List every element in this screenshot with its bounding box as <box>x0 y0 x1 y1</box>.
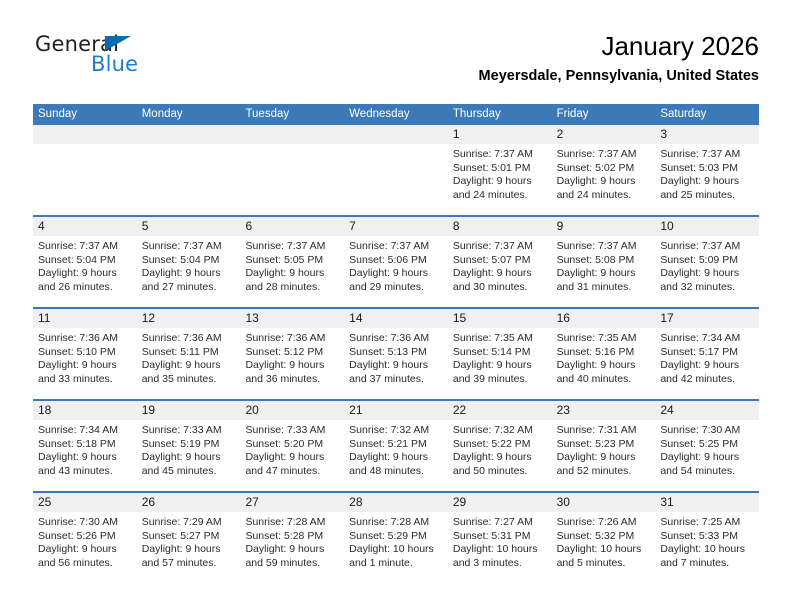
daylight-text-line1: Daylight: 9 hours <box>245 543 339 557</box>
week-row: 1Sunrise: 7:37 AMSunset: 5:01 PMDaylight… <box>33 125 759 215</box>
day-cell[interactable]: 10Sunrise: 7:37 AMSunset: 5:09 PMDayligh… <box>655 217 759 307</box>
weekday-header-thursday: Thursday <box>448 104 552 125</box>
day-number: 7 <box>349 219 356 233</box>
day-cell[interactable]: 20Sunrise: 7:33 AMSunset: 5:20 PMDayligh… <box>240 401 344 491</box>
sunrise-text: Sunrise: 7:36 AM <box>245 332 339 346</box>
sunset-text: Sunset: 5:23 PM <box>557 438 651 452</box>
sunrise-text: Sunrise: 7:28 AM <box>245 516 339 530</box>
weekday-header-row: Sunday Monday Tuesday Wednesday Thursday… <box>33 104 759 125</box>
day-cell[interactable]: 2Sunrise: 7:37 AMSunset: 5:02 PMDaylight… <box>552 125 656 215</box>
sunset-text: Sunset: 5:22 PM <box>453 438 547 452</box>
day-number-band: 4 <box>33 217 137 236</box>
daylight-text-line1: Daylight: 9 hours <box>142 451 236 465</box>
day-details: Sunrise: 7:35 AMSunset: 5:16 PMDaylight:… <box>552 328 656 386</box>
daylight-text-line1: Daylight: 9 hours <box>557 451 651 465</box>
page-title: January 2026 <box>479 30 759 62</box>
day-details: Sunrise: 7:26 AMSunset: 5:32 PMDaylight:… <box>552 512 656 570</box>
daylight-text-line2: and 30 minutes. <box>453 281 547 295</box>
daylight-text-line2: and 26 minutes. <box>38 281 132 295</box>
sunset-text: Sunset: 5:26 PM <box>38 530 132 544</box>
calendar-page: General Blue January 2026 Meyersdale, Pe… <box>0 0 792 612</box>
day-cell-empty <box>33 125 137 215</box>
day-number-band: 31 <box>655 493 759 512</box>
sunset-text: Sunset: 5:31 PM <box>453 530 547 544</box>
day-number-band: 5 <box>137 217 241 236</box>
sunset-text: Sunset: 5:18 PM <box>38 438 132 452</box>
day-number: 28 <box>349 495 362 509</box>
sunset-text: Sunset: 5:25 PM <box>660 438 754 452</box>
day-cell[interactable]: 18Sunrise: 7:34 AMSunset: 5:18 PMDayligh… <box>33 401 137 491</box>
day-cell[interactable]: 23Sunrise: 7:31 AMSunset: 5:23 PMDayligh… <box>552 401 656 491</box>
day-number: 8 <box>453 219 460 233</box>
day-number-band: 8 <box>448 217 552 236</box>
day-number-band: 28 <box>344 493 448 512</box>
sunrise-text: Sunrise: 7:37 AM <box>660 148 754 162</box>
day-cell[interactable]: 15Sunrise: 7:35 AMSunset: 5:14 PMDayligh… <box>448 309 552 399</box>
sunset-text: Sunset: 5:07 PM <box>453 254 547 268</box>
daylight-text-line2: and 25 minutes. <box>660 189 754 203</box>
daylight-text-line1: Daylight: 9 hours <box>660 359 754 373</box>
day-number-band: 25 <box>33 493 137 512</box>
daylight-text-line2: and 27 minutes. <box>142 281 236 295</box>
day-details: Sunrise: 7:27 AMSunset: 5:31 PMDaylight:… <box>448 512 552 570</box>
day-details: Sunrise: 7:37 AMSunset: 5:02 PMDaylight:… <box>552 144 656 202</box>
day-cell[interactable]: 7Sunrise: 7:37 AMSunset: 5:06 PMDaylight… <box>344 217 448 307</box>
sunrise-text: Sunrise: 7:26 AM <box>557 516 651 530</box>
sunrise-text: Sunrise: 7:37 AM <box>557 240 651 254</box>
daylight-text-line2: and 42 minutes. <box>660 373 754 387</box>
logo-text-blue: Blue <box>91 52 138 76</box>
daylight-text-line1: Daylight: 9 hours <box>38 543 132 557</box>
day-number: 10 <box>660 219 673 233</box>
sunrise-text: Sunrise: 7:37 AM <box>557 148 651 162</box>
daylight-text-line1: Daylight: 9 hours <box>660 451 754 465</box>
day-details: Sunrise: 7:37 AMSunset: 5:09 PMDaylight:… <box>655 236 759 294</box>
sunset-text: Sunset: 5:05 PM <box>245 254 339 268</box>
day-details: Sunrise: 7:32 AMSunset: 5:21 PMDaylight:… <box>344 420 448 478</box>
weekday-header-monday: Monday <box>137 104 241 125</box>
day-number-band <box>344 125 448 144</box>
sunrise-text: Sunrise: 7:28 AM <box>349 516 443 530</box>
day-cell[interactable]: 27Sunrise: 7:28 AMSunset: 5:28 PMDayligh… <box>240 493 344 583</box>
day-cell[interactable]: 1Sunrise: 7:37 AMSunset: 5:01 PMDaylight… <box>448 125 552 215</box>
sunrise-text: Sunrise: 7:37 AM <box>245 240 339 254</box>
sunrise-text: Sunrise: 7:37 AM <box>38 240 132 254</box>
sunset-text: Sunset: 5:17 PM <box>660 346 754 360</box>
sunrise-text: Sunrise: 7:32 AM <box>453 424 547 438</box>
day-number-band: 14 <box>344 309 448 328</box>
sunset-text: Sunset: 5:13 PM <box>349 346 443 360</box>
day-number-band: 29 <box>448 493 552 512</box>
weekday-header-friday: Friday <box>552 104 656 125</box>
sunrise-text: Sunrise: 7:31 AM <box>557 424 651 438</box>
daylight-text-line1: Daylight: 9 hours <box>557 175 651 189</box>
day-cell[interactable]: 9Sunrise: 7:37 AMSunset: 5:08 PMDaylight… <box>552 217 656 307</box>
sunrise-text: Sunrise: 7:30 AM <box>660 424 754 438</box>
daylight-text-line2: and 1 minute. <box>349 557 443 571</box>
day-cell[interactable]: 26Sunrise: 7:29 AMSunset: 5:27 PMDayligh… <box>137 493 241 583</box>
day-cell-empty <box>137 125 241 215</box>
daylight-text-line1: Daylight: 9 hours <box>38 359 132 373</box>
day-details: Sunrise: 7:37 AMSunset: 5:03 PMDaylight:… <box>655 144 759 202</box>
day-number: 20 <box>245 403 258 417</box>
day-cell[interactable]: 14Sunrise: 7:36 AMSunset: 5:13 PMDayligh… <box>344 309 448 399</box>
day-cell[interactable]: 5Sunrise: 7:37 AMSunset: 5:04 PMDaylight… <box>137 217 241 307</box>
day-cell[interactable]: 24Sunrise: 7:30 AMSunset: 5:25 PMDayligh… <box>655 401 759 491</box>
sunset-text: Sunset: 5:16 PM <box>557 346 651 360</box>
day-details: Sunrise: 7:30 AMSunset: 5:26 PMDaylight:… <box>33 512 137 570</box>
sunrise-text: Sunrise: 7:29 AM <box>142 516 236 530</box>
day-cell[interactable]: 6Sunrise: 7:37 AMSunset: 5:05 PMDaylight… <box>240 217 344 307</box>
week-row: 25Sunrise: 7:30 AMSunset: 5:26 PMDayligh… <box>33 491 759 583</box>
day-number-band: 22 <box>448 401 552 420</box>
day-cell[interactable]: 19Sunrise: 7:33 AMSunset: 5:19 PMDayligh… <box>137 401 241 491</box>
sunset-text: Sunset: 5:32 PM <box>557 530 651 544</box>
sunrise-text: Sunrise: 7:27 AM <box>453 516 547 530</box>
daylight-text-line2: and 56 minutes. <box>38 557 132 571</box>
day-number: 3 <box>660 127 667 141</box>
day-details: Sunrise: 7:36 AMSunset: 5:13 PMDaylight:… <box>344 328 448 386</box>
daylight-text-line2: and 28 minutes. <box>245 281 339 295</box>
daylight-text-line1: Daylight: 9 hours <box>557 359 651 373</box>
daylight-text-line1: Daylight: 9 hours <box>38 267 132 281</box>
daylight-text-line1: Daylight: 9 hours <box>349 451 443 465</box>
weekday-header-saturday: Saturday <box>655 104 759 125</box>
title-block: January 2026 Meyersdale, Pennsylvania, U… <box>479 30 759 85</box>
daylight-text-line2: and 7 minutes. <box>660 557 754 571</box>
day-cell[interactable]: 13Sunrise: 7:36 AMSunset: 5:12 PMDayligh… <box>240 309 344 399</box>
day-number-band: 7 <box>344 217 448 236</box>
day-details: Sunrise: 7:37 AMSunset: 5:07 PMDaylight:… <box>448 236 552 294</box>
daylight-text-line2: and 32 minutes. <box>660 281 754 295</box>
sunrise-text: Sunrise: 7:34 AM <box>38 424 132 438</box>
day-number: 24 <box>660 403 673 417</box>
sunrise-text: Sunrise: 7:34 AM <box>660 332 754 346</box>
daylight-text-line1: Daylight: 9 hours <box>349 267 443 281</box>
day-cell[interactable]: 21Sunrise: 7:32 AMSunset: 5:21 PMDayligh… <box>344 401 448 491</box>
week-row: 4Sunrise: 7:37 AMSunset: 5:04 PMDaylight… <box>33 215 759 307</box>
daylight-text-line1: Daylight: 9 hours <box>660 175 754 189</box>
day-number-band <box>33 125 137 144</box>
weekday-header-tuesday: Tuesday <box>240 104 344 125</box>
sunset-text: Sunset: 5:12 PM <box>245 346 339 360</box>
daylight-text-line1: Daylight: 9 hours <box>453 359 547 373</box>
sunset-text: Sunset: 5:28 PM <box>245 530 339 544</box>
day-number: 13 <box>245 311 258 325</box>
day-number-band <box>240 125 344 144</box>
day-details: Sunrise: 7:28 AMSunset: 5:28 PMDaylight:… <box>240 512 344 570</box>
daylight-text-line2: and 40 minutes. <box>557 373 651 387</box>
sunset-text: Sunset: 5:08 PM <box>557 254 651 268</box>
day-number: 1 <box>453 127 460 141</box>
daylight-text-line1: Daylight: 9 hours <box>453 267 547 281</box>
day-number-band: 30 <box>552 493 656 512</box>
calendar-weeks: 1Sunrise: 7:37 AMSunset: 5:01 PMDaylight… <box>33 125 759 583</box>
sunset-text: Sunset: 5:10 PM <box>38 346 132 360</box>
general-blue-logo[interactable]: General Blue <box>33 30 233 90</box>
day-details: Sunrise: 7:37 AMSunset: 5:05 PMDaylight:… <box>240 236 344 294</box>
day-cell[interactable]: 25Sunrise: 7:30 AMSunset: 5:26 PMDayligh… <box>33 493 137 583</box>
daylight-text-line1: Daylight: 9 hours <box>453 175 547 189</box>
day-cell[interactable]: 11Sunrise: 7:36 AMSunset: 5:10 PMDayligh… <box>33 309 137 399</box>
day-number: 14 <box>349 311 362 325</box>
daylight-text-line1: Daylight: 9 hours <box>38 451 132 465</box>
daylight-text-line2: and 37 minutes. <box>349 373 443 387</box>
location-subtitle: Meyersdale, Pennsylvania, United States <box>479 67 759 85</box>
day-details: Sunrise: 7:32 AMSunset: 5:22 PMDaylight:… <box>448 420 552 478</box>
day-number-band <box>137 125 241 144</box>
day-number-band: 20 <box>240 401 344 420</box>
day-number-band: 21 <box>344 401 448 420</box>
sunset-text: Sunset: 5:27 PM <box>142 530 236 544</box>
day-number: 19 <box>142 403 155 417</box>
day-number: 26 <box>142 495 155 509</box>
day-number: 6 <box>245 219 252 233</box>
day-number: 16 <box>557 311 570 325</box>
day-details: Sunrise: 7:34 AMSunset: 5:18 PMDaylight:… <box>33 420 137 478</box>
daylight-text-line2: and 50 minutes. <box>453 465 547 479</box>
day-details: Sunrise: 7:35 AMSunset: 5:14 PMDaylight:… <box>448 328 552 386</box>
day-cell[interactable]: 17Sunrise: 7:34 AMSunset: 5:17 PMDayligh… <box>655 309 759 399</box>
day-number: 2 <box>557 127 564 141</box>
daylight-text-line2: and 24 minutes. <box>557 189 651 203</box>
daylight-text-line2: and 3 minutes. <box>453 557 547 571</box>
sunset-text: Sunset: 5:20 PM <box>245 438 339 452</box>
day-number-band: 27 <box>240 493 344 512</box>
day-number-band: 12 <box>137 309 241 328</box>
sunrise-text: Sunrise: 7:36 AM <box>38 332 132 346</box>
sunrise-text: Sunrise: 7:32 AM <box>349 424 443 438</box>
daylight-text-line2: and 35 minutes. <box>142 373 236 387</box>
sunrise-text: Sunrise: 7:33 AM <box>245 424 339 438</box>
day-number: 22 <box>453 403 466 417</box>
day-cell-empty <box>240 125 344 215</box>
sunset-text: Sunset: 5:04 PM <box>142 254 236 268</box>
sunrise-text: Sunrise: 7:37 AM <box>142 240 236 254</box>
daylight-text-line2: and 57 minutes. <box>142 557 236 571</box>
daylight-text-line1: Daylight: 10 hours <box>349 543 443 557</box>
day-details: Sunrise: 7:37 AMSunset: 5:08 PMDaylight:… <box>552 236 656 294</box>
daylight-text-line2: and 29 minutes. <box>349 281 443 295</box>
day-number-band: 16 <box>552 309 656 328</box>
day-number: 30 <box>557 495 570 509</box>
sunset-text: Sunset: 5:09 PM <box>660 254 754 268</box>
day-details: Sunrise: 7:36 AMSunset: 5:10 PMDaylight:… <box>33 328 137 386</box>
day-number: 5 <box>142 219 149 233</box>
day-details: Sunrise: 7:28 AMSunset: 5:29 PMDaylight:… <box>344 512 448 570</box>
sunset-text: Sunset: 5:19 PM <box>142 438 236 452</box>
page-header: General Blue January 2026 Meyersdale, Pe… <box>33 30 759 96</box>
daylight-text-line2: and 24 minutes. <box>453 189 547 203</box>
daylight-text-line1: Daylight: 9 hours <box>142 359 236 373</box>
sunrise-text: Sunrise: 7:37 AM <box>349 240 443 254</box>
sunrise-text: Sunrise: 7:35 AM <box>557 332 651 346</box>
daylight-text-line2: and 54 minutes. <box>660 465 754 479</box>
weekday-header-sunday: Sunday <box>33 104 137 125</box>
daylight-text-line1: Daylight: 9 hours <box>245 451 339 465</box>
day-number: 29 <box>453 495 466 509</box>
daylight-text-line2: and 59 minutes. <box>245 557 339 571</box>
sunset-text: Sunset: 5:06 PM <box>349 254 443 268</box>
day-number: 15 <box>453 311 466 325</box>
day-number-band: 6 <box>240 217 344 236</box>
day-number-band: 3 <box>655 125 759 144</box>
daylight-text-line1: Daylight: 9 hours <box>557 267 651 281</box>
day-cell[interactable]: 16Sunrise: 7:35 AMSunset: 5:16 PMDayligh… <box>552 309 656 399</box>
day-number-band: 26 <box>137 493 241 512</box>
day-cell[interactable]: 3Sunrise: 7:37 AMSunset: 5:03 PMDaylight… <box>655 125 759 215</box>
sunrise-text: Sunrise: 7:36 AM <box>349 332 443 346</box>
day-details: Sunrise: 7:34 AMSunset: 5:17 PMDaylight:… <box>655 328 759 386</box>
sunrise-text: Sunrise: 7:30 AM <box>38 516 132 530</box>
daylight-text-line2: and 31 minutes. <box>557 281 651 295</box>
day-number: 18 <box>38 403 51 417</box>
day-details: Sunrise: 7:25 AMSunset: 5:33 PMDaylight:… <box>655 512 759 570</box>
day-cell[interactable]: 8Sunrise: 7:37 AMSunset: 5:07 PMDaylight… <box>448 217 552 307</box>
day-cell[interactable]: 29Sunrise: 7:27 AMSunset: 5:31 PMDayligh… <box>448 493 552 583</box>
sunset-text: Sunset: 5:03 PM <box>660 162 754 176</box>
sunset-text: Sunset: 5:11 PM <box>142 346 236 360</box>
daylight-text-line1: Daylight: 9 hours <box>142 267 236 281</box>
day-cell[interactable]: 31Sunrise: 7:25 AMSunset: 5:33 PMDayligh… <box>655 493 759 583</box>
sunrise-text: Sunrise: 7:25 AM <box>660 516 754 530</box>
sunset-text: Sunset: 5:33 PM <box>660 530 754 544</box>
daylight-text-line1: Daylight: 9 hours <box>245 359 339 373</box>
day-number: 31 <box>660 495 673 509</box>
day-details: Sunrise: 7:37 AMSunset: 5:04 PMDaylight:… <box>137 236 241 294</box>
day-number: 11 <box>38 311 50 325</box>
sunset-text: Sunset: 5:04 PM <box>38 254 132 268</box>
day-number-band: 23 <box>552 401 656 420</box>
daylight-text-line1: Daylight: 9 hours <box>349 359 443 373</box>
day-number-band: 9 <box>552 217 656 236</box>
day-number: 9 <box>557 219 564 233</box>
daylight-text-line2: and 47 minutes. <box>245 465 339 479</box>
day-number: 12 <box>142 311 155 325</box>
day-number: 25 <box>38 495 51 509</box>
day-number-band: 18 <box>33 401 137 420</box>
sunset-text: Sunset: 5:29 PM <box>349 530 443 544</box>
day-number-band: 15 <box>448 309 552 328</box>
week-row: 11Sunrise: 7:36 AMSunset: 5:10 PMDayligh… <box>33 307 759 399</box>
day-number: 4 <box>38 219 45 233</box>
day-details: Sunrise: 7:36 AMSunset: 5:12 PMDaylight:… <box>240 328 344 386</box>
sunrise-text: Sunrise: 7:37 AM <box>660 240 754 254</box>
daylight-text-line2: and 33 minutes. <box>38 373 132 387</box>
daylight-text-line1: Daylight: 9 hours <box>453 451 547 465</box>
day-details: Sunrise: 7:30 AMSunset: 5:25 PMDaylight:… <box>655 420 759 478</box>
day-cell[interactable]: 22Sunrise: 7:32 AMSunset: 5:22 PMDayligh… <box>448 401 552 491</box>
day-cell[interactable]: 4Sunrise: 7:37 AMSunset: 5:04 PMDaylight… <box>33 217 137 307</box>
daylight-text-line1: Daylight: 10 hours <box>453 543 547 557</box>
day-details: Sunrise: 7:37 AMSunset: 5:06 PMDaylight:… <box>344 236 448 294</box>
sunrise-text: Sunrise: 7:33 AM <box>142 424 236 438</box>
day-number-band: 17 <box>655 309 759 328</box>
day-details: Sunrise: 7:37 AMSunset: 5:01 PMDaylight:… <box>448 144 552 202</box>
daylight-text-line2: and 43 minutes. <box>38 465 132 479</box>
day-details: Sunrise: 7:36 AMSunset: 5:11 PMDaylight:… <box>137 328 241 386</box>
daylight-text-line2: and 45 minutes. <box>142 465 236 479</box>
week-row: 18Sunrise: 7:34 AMSunset: 5:18 PMDayligh… <box>33 399 759 491</box>
daylight-text-line2: and 48 minutes. <box>349 465 443 479</box>
daylight-text-line2: and 36 minutes. <box>245 373 339 387</box>
day-number: 17 <box>660 311 673 325</box>
logo-triangle-icon <box>105 36 131 51</box>
daylight-text-line1: Daylight: 10 hours <box>557 543 651 557</box>
day-number-band: 11 <box>33 309 137 328</box>
sunrise-text: Sunrise: 7:37 AM <box>453 240 547 254</box>
sunset-text: Sunset: 5:01 PM <box>453 162 547 176</box>
daylight-text-line1: Daylight: 9 hours <box>142 543 236 557</box>
sunset-text: Sunset: 5:02 PM <box>557 162 651 176</box>
sunrise-text: Sunrise: 7:37 AM <box>453 148 547 162</box>
day-number-band: 24 <box>655 401 759 420</box>
day-details: Sunrise: 7:33 AMSunset: 5:20 PMDaylight:… <box>240 420 344 478</box>
day-number-band: 1 <box>448 125 552 144</box>
day-number: 23 <box>557 403 570 417</box>
daylight-text-line1: Daylight: 9 hours <box>245 267 339 281</box>
day-number-band: 19 <box>137 401 241 420</box>
day-number-band: 13 <box>240 309 344 328</box>
day-details: Sunrise: 7:29 AMSunset: 5:27 PMDaylight:… <box>137 512 241 570</box>
day-cell-empty <box>344 125 448 215</box>
day-number-band: 2 <box>552 125 656 144</box>
daylight-text-line2: and 5 minutes. <box>557 557 651 571</box>
sunrise-text: Sunrise: 7:35 AM <box>453 332 547 346</box>
day-cell[interactable]: 30Sunrise: 7:26 AMSunset: 5:32 PMDayligh… <box>552 493 656 583</box>
sunset-text: Sunset: 5:21 PM <box>349 438 443 452</box>
day-cell[interactable]: 28Sunrise: 7:28 AMSunset: 5:29 PMDayligh… <box>344 493 448 583</box>
daylight-text-line2: and 52 minutes. <box>557 465 651 479</box>
day-number-band: 10 <box>655 217 759 236</box>
weekday-header-wednesday: Wednesday <box>344 104 448 125</box>
sunrise-text: Sunrise: 7:36 AM <box>142 332 236 346</box>
day-details: Sunrise: 7:33 AMSunset: 5:19 PMDaylight:… <box>137 420 241 478</box>
day-details: Sunrise: 7:37 AMSunset: 5:04 PMDaylight:… <box>33 236 137 294</box>
day-cell[interactable]: 12Sunrise: 7:36 AMSunset: 5:11 PMDayligh… <box>137 309 241 399</box>
daylight-text-line1: Daylight: 9 hours <box>660 267 754 281</box>
daylight-text-line2: and 39 minutes. <box>453 373 547 387</box>
daylight-text-line1: Daylight: 10 hours <box>660 543 754 557</box>
day-number: 21 <box>349 403 362 417</box>
sunset-text: Sunset: 5:14 PM <box>453 346 547 360</box>
calendar-grid: Sunday Monday Tuesday Wednesday Thursday… <box>33 104 759 583</box>
day-details: Sunrise: 7:31 AMSunset: 5:23 PMDaylight:… <box>552 420 656 478</box>
day-number: 27 <box>245 495 258 509</box>
